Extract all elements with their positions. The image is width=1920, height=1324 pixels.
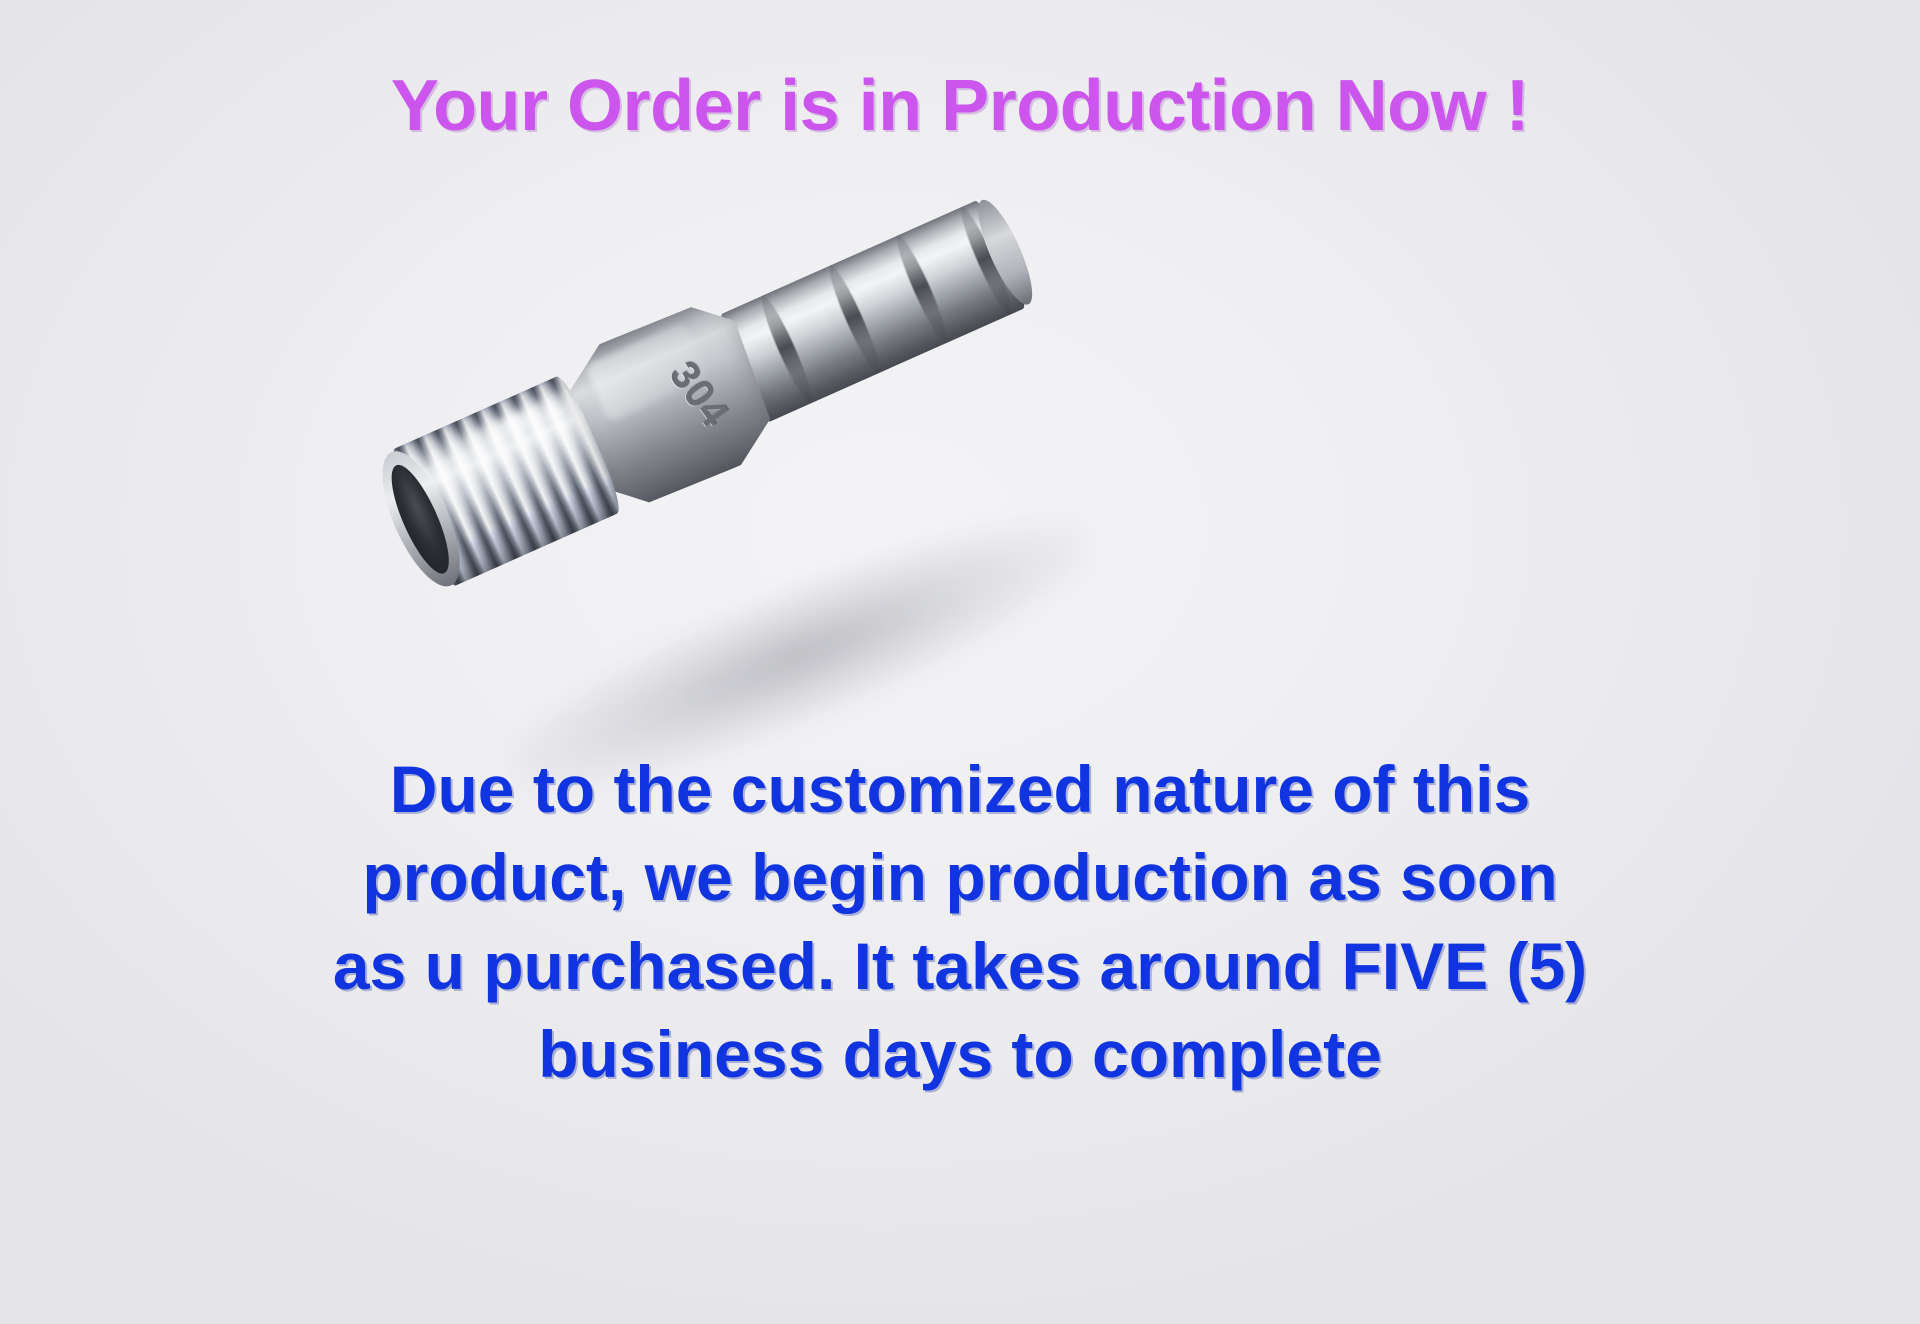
production-notice-text: Due to the customized nature of this pro… xyxy=(0,745,1920,1099)
barb-ridge-icon xyxy=(823,262,886,376)
notice-line: as u purchased. It takes around FIVE (5) xyxy=(0,922,1920,1010)
barb-ridge-icon xyxy=(756,292,819,406)
barb-ridge-icon xyxy=(891,232,954,346)
notice-line: Due to the customized nature of this xyxy=(0,745,1920,833)
production-notice-poster: Your Order is in Production Now ! 304 Du… xyxy=(0,0,1920,1324)
product-image: 304 xyxy=(430,290,1170,750)
notice-line: business days to complete xyxy=(0,1010,1920,1098)
notice-line: product, we begin production as soon xyxy=(0,833,1920,921)
